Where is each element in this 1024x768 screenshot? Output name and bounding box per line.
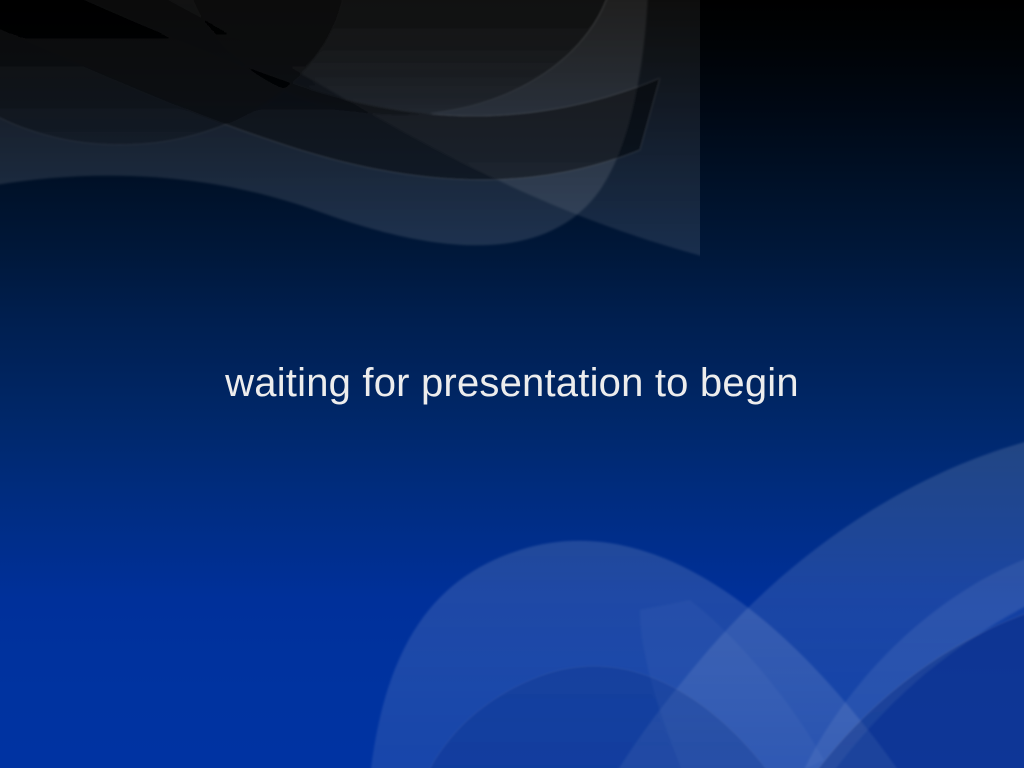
presentation-slide[interactable]: waiting for presentation to begin (0, 0, 1024, 768)
slide-text-block: waiting for presentation to begin (0, 0, 1024, 768)
slide-message-text: waiting for presentation to begin (225, 360, 799, 406)
